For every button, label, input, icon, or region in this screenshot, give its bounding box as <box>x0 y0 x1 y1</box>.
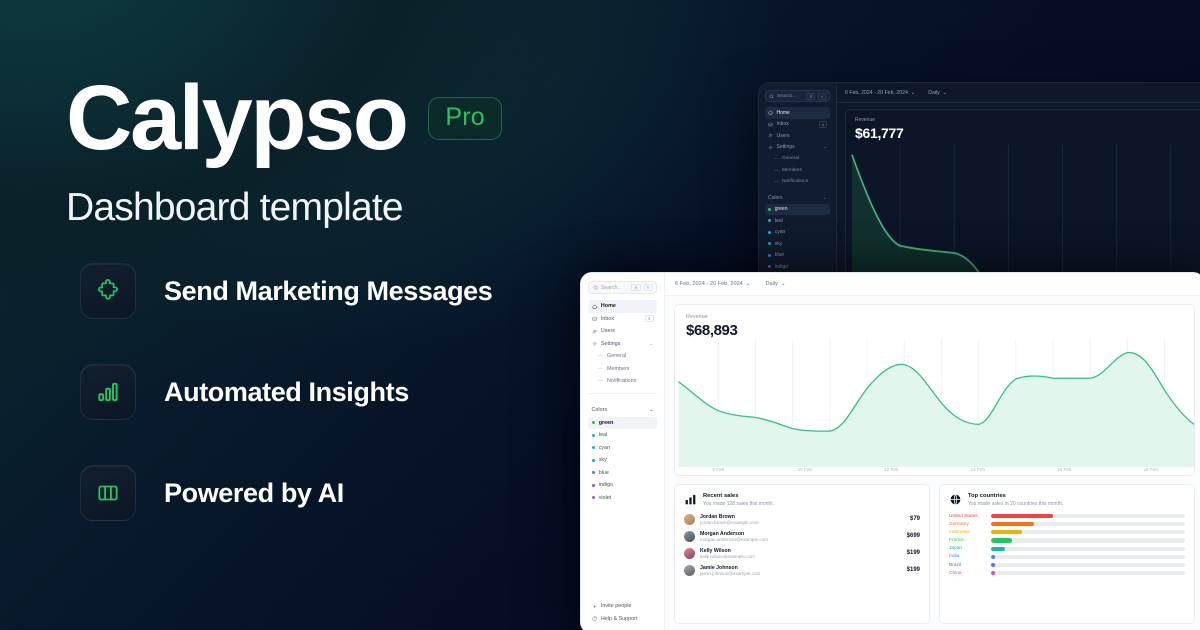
sale-email: morgan.anderson@example.com <box>700 537 768 542</box>
sidebar-item-label: Inbox <box>777 121 789 127</box>
home-icon <box>768 110 773 115</box>
color-swatch <box>768 231 771 234</box>
country-label: Japan <box>949 546 987 551</box>
sidebar-item-label: Settings <box>777 144 795 150</box>
sidebar-item-general[interactable]: — General <box>765 153 830 165</box>
gear-icon <box>592 341 597 346</box>
interval-label: Daily <box>765 281 777 287</box>
home-icon <box>592 304 597 309</box>
columns-icon <box>80 465 136 521</box>
bar-chart-icon <box>80 364 136 420</box>
bullet-dash-icon: — <box>774 168 779 173</box>
globe-icon <box>949 493 962 506</box>
search-placeholder: Search... <box>601 285 628 291</box>
color-item-sky[interactable]: sky <box>765 238 830 250</box>
bullet-dash-icon: — <box>598 353 603 359</box>
color-item-teal[interactable]: teal <box>588 429 657 442</box>
color-item-cyan[interactable]: cyan <box>588 442 657 455</box>
sale-name: Kelly Wilson <box>700 548 755 554</box>
recent-sales-panel: Recent sales You made 128 sales this mon… <box>674 484 930 624</box>
inbox-icon <box>768 122 773 127</box>
country-label: United States <box>949 514 987 519</box>
color-swatch <box>592 459 595 462</box>
color-item-blue[interactable]: blue <box>588 467 657 480</box>
country-bar-track <box>991 547 1185 551</box>
color-label: teal <box>775 218 783 224</box>
country-label: Germany <box>949 522 987 527</box>
interval-selector[interactable]: Daily ⌄ <box>765 281 785 287</box>
bottom-panels: Recent sales You made 128 sales this mon… <box>674 484 1195 624</box>
sale-email: jamie.johnson@example.com <box>700 571 760 576</box>
color-label: cyan <box>599 445 610 451</box>
date-range-selector[interactable]: 6 Feb, 2024 - 20 Feb, 2024 ⌄ <box>675 281 750 287</box>
light-main: 6 Feb, 2024 - 20 Feb, 2024 ⌄ Daily ⌄ Rev… <box>665 273 1200 630</box>
plus-icon <box>592 604 597 609</box>
country-bar-fill <box>991 514 1053 518</box>
light-area-chart <box>675 339 1194 467</box>
sidebar-item-label: Users <box>601 328 615 334</box>
sidebar-item-notifications[interactable]: — Notifications <box>588 375 657 388</box>
revenue-value: $68,893 <box>686 322 737 339</box>
colors-label: Colors <box>768 195 782 201</box>
sidebar-item-label: General <box>782 156 799 161</box>
country-row: United States <box>949 514 1185 519</box>
color-item-sky[interactable]: sky <box>588 454 657 467</box>
chart-x-axis: 8 Feb 10 Feb 12 Feb 14 Feb 16 Feb 18 Feb <box>675 467 1194 472</box>
chevron-down-icon: ⌄ <box>823 144 827 150</box>
sidebar-item-settings[interactable]: Settings ⌄ <box>588 338 657 351</box>
help-support-button[interactable]: Help & Support <box>588 613 657 626</box>
sale-email: jordan.brown@example.com <box>700 520 759 525</box>
color-label: blue <box>775 252 784 258</box>
color-swatch <box>592 496 595 499</box>
light-dashboard-window[interactable]: Search... ⌘ K Home Inbox 4 Users Setting… <box>580 272 1200 630</box>
country-row: Germany <box>949 522 1185 527</box>
color-label: sky <box>775 241 783 247</box>
country-label: Indonesia <box>949 530 987 535</box>
inbox-icon <box>592 316 597 321</box>
color-item-green[interactable]: green <box>765 204 830 216</box>
sidebar-item-home[interactable]: Home <box>588 300 657 313</box>
sidebar-item-label: Home <box>777 110 790 116</box>
invite-people-button[interactable]: Invite people <box>588 600 657 613</box>
color-label: cyan <box>775 229 786 235</box>
panel-title: Recent sales <box>703 493 774 499</box>
sidebar-item-label: Home <box>601 303 616 309</box>
color-item-teal[interactable]: teal <box>765 215 830 227</box>
kbd-cmd: ⌘ <box>631 284 641 291</box>
sidebar-item-settings[interactable]: Settings ⌄ <box>765 142 830 154</box>
pro-badge: Pro <box>428 97 502 140</box>
colors-section-header[interactable]: Colors ⌄ <box>765 192 830 204</box>
sidebar-item-users[interactable]: Users <box>588 325 657 338</box>
feature-item: Automated Insights <box>80 364 492 420</box>
country-bar-track <box>991 555 1185 559</box>
hero: Calypso Pro Dashboard template <box>66 72 586 230</box>
color-swatch <box>592 446 595 449</box>
sidebar-item-users[interactable]: Users <box>765 130 830 142</box>
country-bar-track <box>991 538 1185 542</box>
country-label: India <box>949 554 987 559</box>
search-input[interactable]: Search... ⌘ K <box>765 90 830 102</box>
color-swatch <box>592 421 595 424</box>
country-bar-fill <box>991 538 1012 542</box>
country-label: China <box>949 571 987 576</box>
country-row: Japan <box>949 546 1185 551</box>
sale-name: Jordan Brown <box>700 514 759 520</box>
feature-item: Send Marketing Messages <box>80 263 492 319</box>
color-item-indigo[interactable]: indigo <box>588 479 657 492</box>
bullet-dash-icon: — <box>598 366 603 372</box>
sidebar-item-label: Inbox <box>601 316 614 322</box>
country-bar-fill <box>991 563 995 567</box>
sidebar-item-inbox[interactable]: Inbox 4 <box>588 313 657 326</box>
country-bar-fill <box>991 530 1022 534</box>
dark-toolbar: 6 Feb, 2024 - 20 Feb, 2024 ⌄ Daily ⌄ <box>837 83 1200 103</box>
bullet-dash-icon: — <box>774 179 779 184</box>
country-row: Indonesia <box>949 530 1185 535</box>
sidebar-divider <box>588 393 657 394</box>
x-tick-label: 18 Feb <box>1108 467 1195 472</box>
avatar <box>684 548 695 559</box>
sidebar-item-label: Invite people <box>601 603 632 609</box>
sale-amount: $199 <box>907 550 920 556</box>
color-item-violet[interactable]: violet <box>588 492 657 505</box>
sidebar-item-label: Members <box>607 366 629 372</box>
feature-label: Send Marketing Messages <box>164 276 492 307</box>
revenue-label: Revenue <box>686 314 708 320</box>
panel-title: Top countries <box>968 493 1063 499</box>
revenue-chart-card: Revenue $68,893 8 Feb 10 Feb 12 Feb <box>674 304 1195 476</box>
sale-name: Morgan Anderson <box>700 531 768 537</box>
sidebar-item-label: Help & Support <box>601 616 638 622</box>
sale-amount: $199 <box>907 567 920 573</box>
color-swatch <box>768 219 771 222</box>
x-tick-label: 10 Feb <box>762 467 849 472</box>
interval-label: Daily <box>928 90 940 96</box>
title-row: Calypso Pro <box>66 72 586 164</box>
sidebar-item-members[interactable]: — Members <box>765 165 830 177</box>
country-bar-fill <box>991 571 995 575</box>
country-row: Brazil <box>949 563 1185 568</box>
colors-label: Colors <box>592 407 608 413</box>
date-range-selector[interactable]: 6 Feb, 2024 - 20 Feb, 2024 ⌄ <box>845 90 915 96</box>
avatar <box>684 514 695 525</box>
revenue-label: Revenue <box>855 117 875 123</box>
list-item[interactable]: Morgan Anderson morgan.anderson@example.… <box>684 531 920 543</box>
sidebar-item-members[interactable]: — Members <box>588 363 657 376</box>
feature-label: Powered by AI <box>164 478 344 509</box>
color-swatch <box>768 265 771 268</box>
sidebar-item-general[interactable]: — General <box>588 350 657 363</box>
panel-header: Top countries You made sales in 20 count… <box>949 493 1185 507</box>
feature-list: Send Marketing Messages Automated Insigh… <box>80 263 492 521</box>
color-swatch <box>592 471 595 474</box>
page-title: Calypso <box>66 72 406 164</box>
list-item[interactable]: Jamie Johnson jamie.johnson@example.com … <box>684 565 920 577</box>
country-bar-fill <box>991 522 1034 526</box>
sale-amount: $79 <box>910 516 920 522</box>
color-swatch <box>768 242 771 245</box>
color-item-green[interactable]: green <box>588 417 657 430</box>
color-item-cyan[interactable]: cyan <box>765 227 830 239</box>
color-label: blue <box>599 470 609 476</box>
inbox-badge: 4 <box>645 315 653 322</box>
list-item[interactable]: Jordan Brown jordan.brown@example.com $7… <box>684 514 920 526</box>
date-range-label: 6 Feb, 2024 - 20 Feb, 2024 <box>845 90 908 96</box>
color-item-indigo[interactable]: indigo <box>765 261 830 273</box>
color-label: violet <box>599 495 612 501</box>
kbd-k: K <box>818 93 826 100</box>
search-input[interactable]: Search... ⌘ K <box>588 281 657 294</box>
x-tick-label: 14 Feb <box>935 467 1022 472</box>
country-bar-track <box>991 530 1185 534</box>
kbd-k: K <box>644 284 652 291</box>
bullet-dash-icon: — <box>774 156 779 161</box>
country-bar-track <box>991 522 1185 526</box>
list-item[interactable]: Kelly Wilson kelly.wilson@example.com $1… <box>684 548 920 560</box>
inbox-badge: 4 <box>819 121 827 128</box>
panel-header: Recent sales You made 128 sales this mon… <box>684 493 920 507</box>
color-label: green <box>599 420 614 426</box>
sidebar-item-label: Users <box>777 133 790 139</box>
interval-selector[interactable]: Daily ⌄ <box>928 90 947 96</box>
chevron-down-icon: ⌄ <box>746 281 751 287</box>
chevron-down-icon: ⌄ <box>823 195 827 201</box>
sidebar-item-label: Members <box>782 168 802 173</box>
search-placeholder: Search... <box>777 94 803 99</box>
x-tick-label: 16 Feb <box>1021 467 1108 472</box>
country-bar-track <box>991 514 1185 518</box>
country-label: Brazil <box>949 563 987 568</box>
panel-subtitle: You made sales in 20 countries this mont… <box>968 501 1063 507</box>
country-row: India <box>949 554 1185 559</box>
users-icon <box>768 133 773 138</box>
chevron-down-icon: ⌄ <box>649 341 653 347</box>
gear-icon <box>768 145 773 150</box>
search-icon <box>769 94 774 99</box>
country-label: France <box>949 538 987 543</box>
country-bar-track <box>991 563 1185 567</box>
x-tick-label: 8 Feb <box>675 467 762 472</box>
sidebar-footer: Invite people Help & Support <box>588 600 657 625</box>
sidebar-item-inbox[interactable]: Inbox 4 <box>765 119 830 131</box>
light-sidebar: Search... ⌘ K Home Inbox 4 Users Setting… <box>581 273 665 630</box>
color-label: indigo <box>775 264 788 270</box>
country-bar-track <box>991 571 1185 575</box>
sidebar-item-label: Settings <box>601 341 620 347</box>
color-label: green <box>775 206 788 212</box>
colors-section-header[interactable]: Colors ⌄ <box>588 404 657 417</box>
top-countries-panel: Top countries You made sales in 20 count… <box>939 484 1195 624</box>
date-range-label: 6 Feb, 2024 - 20 Feb, 2024 <box>675 281 743 287</box>
color-swatch <box>592 434 595 437</box>
color-item-blue[interactable]: blue <box>765 250 830 262</box>
help-circle-icon <box>592 616 597 621</box>
sidebar-item-home[interactable]: Home <box>765 107 830 119</box>
country-bar-fill <box>991 555 995 559</box>
color-swatch <box>768 254 771 257</box>
search-icon <box>593 285 598 290</box>
color-swatch <box>592 484 595 487</box>
bullet-dash-icon: — <box>598 378 603 384</box>
chevron-down-icon: ⌄ <box>649 407 654 413</box>
color-swatch <box>768 208 771 211</box>
sidebar-item-notifications[interactable]: — Notifications <box>765 176 830 188</box>
sale-amount: $699 <box>907 533 920 539</box>
puzzle-piece-icon <box>80 263 136 319</box>
x-tick-label: 12 Feb <box>848 467 935 472</box>
panel-subtitle: You made 128 sales this month. <box>703 501 774 507</box>
revenue-value: $61,777 <box>855 125 904 141</box>
avatar <box>684 531 695 542</box>
kbd-cmd: ⌘ <box>806 93 815 100</box>
sidebar-item-label: General <box>607 353 626 359</box>
country-row: China <box>949 571 1185 576</box>
sale-email: kelly.wilson@example.com <box>700 554 755 559</box>
sidebar-item-label: Notifications <box>607 378 636 384</box>
chevron-down-icon: ⌄ <box>943 90 947 96</box>
chevron-down-icon: ⌄ <box>781 281 786 287</box>
sale-name: Jamie Johnson <box>700 565 760 571</box>
color-label: sky <box>599 457 607 463</box>
country-bar-fill <box>991 547 1005 551</box>
page-subtitle: Dashboard template <box>66 186 586 230</box>
color-label: teal <box>599 432 608 438</box>
sidebar-item-label: Notifications <box>782 179 808 184</box>
color-label: indigo <box>599 482 613 488</box>
bar-chart-icon <box>684 493 697 506</box>
avatar <box>684 565 695 576</box>
light-toolbar: 6 Feb, 2024 - 20 Feb, 2024 ⌄ Daily ⌄ <box>665 273 1200 296</box>
users-icon <box>592 329 597 334</box>
chevron-down-icon: ⌄ <box>911 90 915 96</box>
country-row: France <box>949 538 1185 543</box>
feature-label: Automated Insights <box>164 377 409 408</box>
feature-item: Powered by AI <box>80 465 492 521</box>
